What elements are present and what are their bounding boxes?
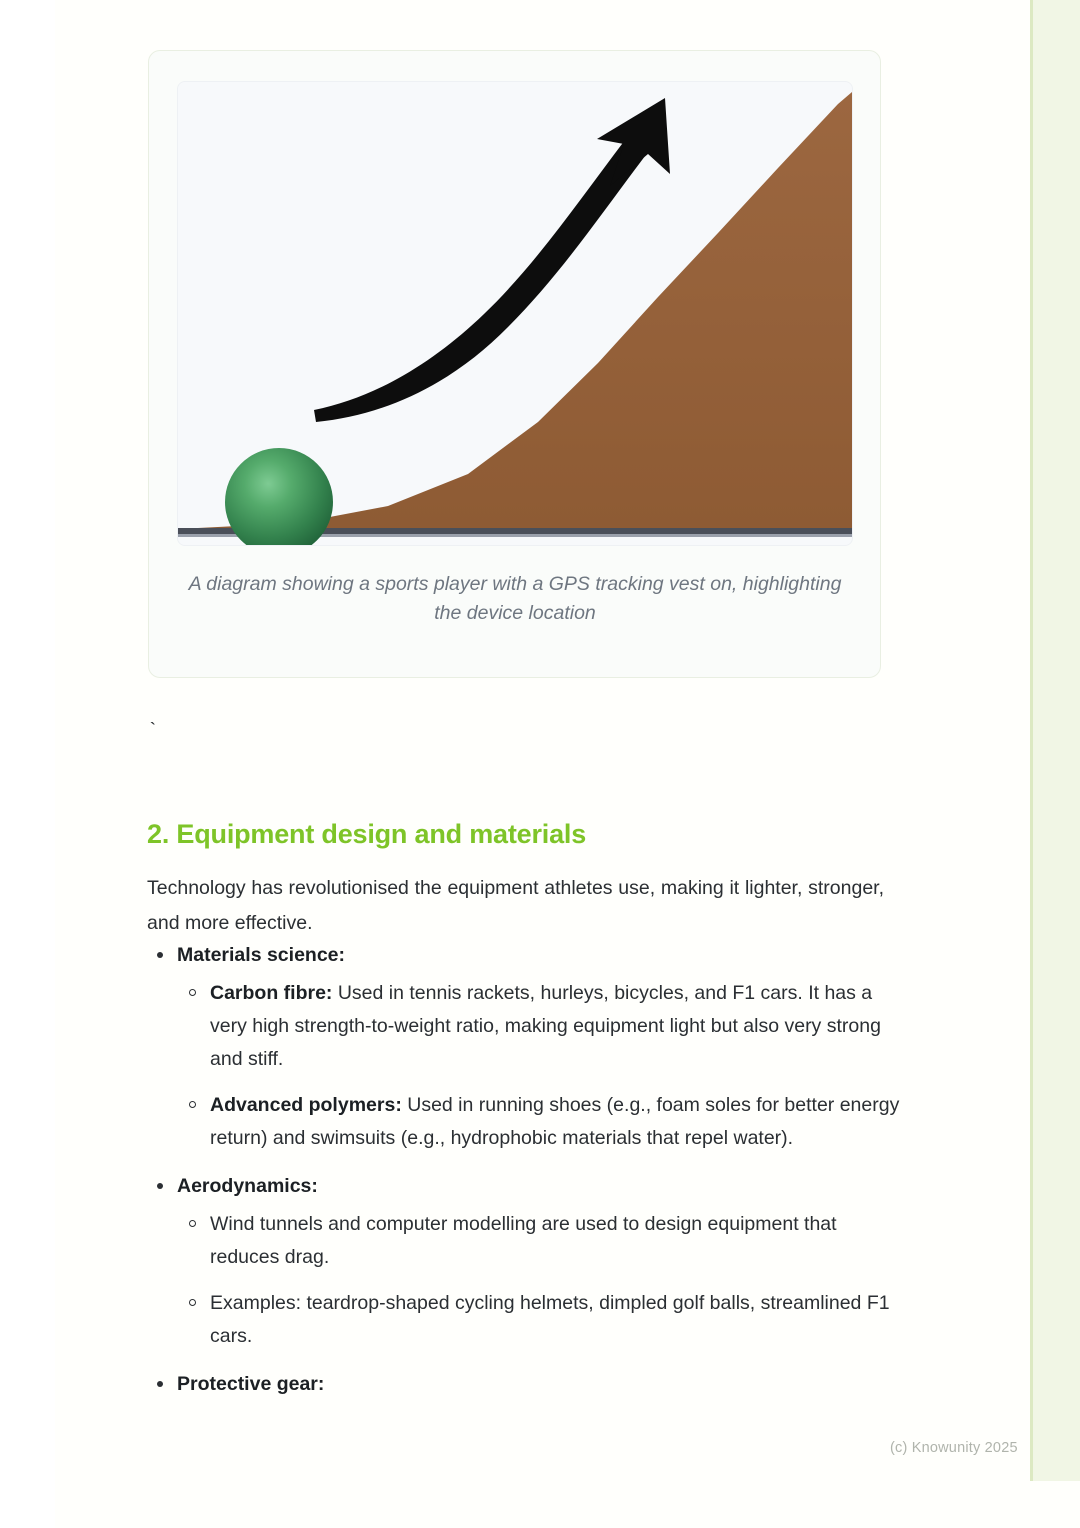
page-surface: A diagram showing a sports player with a… <box>55 0 1080 1528</box>
outline-group: Protective gear: <box>147 1369 907 1400</box>
copyright-watermark: (c) Knowunity 2025 <box>890 1438 1018 1458</box>
intro-paragraph: Technology has revolutionised the equipm… <box>147 871 884 941</box>
bullet-dot-icon <box>157 1183 163 1189</box>
outline-subitem: Advanced polymers: Used in running shoes… <box>177 1089 907 1155</box>
outline-subitem-lead: Carbon fibre: <box>210 982 332 1004</box>
outline-subitem-text: Advanced polymers: Used in running shoes… <box>210 1089 907 1155</box>
outline-subitem: Wind tunnels and computer modelling are … <box>177 1208 907 1274</box>
bullet-ring-icon <box>189 1101 196 1108</box>
outline-group: Aerodynamics:Wind tunnels and computer m… <box>147 1171 907 1353</box>
outline-subitem-text: Examples: teardrop-shaped cycling helmet… <box>210 1287 907 1353</box>
page-title: 2. Equipment design and materials <box>147 815 907 853</box>
outline-subitem-body: Wind tunnels and computer modelling are … <box>210 1213 837 1268</box>
outline-list: Materials science:Carbon fibre: Used in … <box>147 940 907 1416</box>
outline-subitem-text: Carbon fibre: Used in tennis rackets, hu… <box>210 977 907 1076</box>
green-sphere <box>225 448 333 545</box>
bullet-ring-icon <box>189 1299 196 1306</box>
bullet-dot-icon <box>157 1381 163 1387</box>
outline-group-label: Aerodynamics: <box>177 1171 907 1202</box>
outline-subitem: Examples: teardrop-shaped cycling helmet… <box>177 1287 907 1353</box>
bullet-ring-icon <box>189 989 196 996</box>
outline-group: Materials science:Carbon fibre: Used in … <box>147 940 907 1155</box>
right-rail <box>1030 0 1080 1481</box>
outline-subitem-body: Examples: teardrop-shaped cycling helmet… <box>210 1292 890 1347</box>
stray-backtick: ` <box>147 718 158 744</box>
figure-caption: A diagram showing a sports player with a… <box>179 570 851 628</box>
figure-image-frame <box>178 82 852 545</box>
outline-group-label: Protective gear: <box>177 1369 907 1400</box>
bullet-ring-icon <box>189 1220 196 1227</box>
outline-subitems: Wind tunnels and computer modelling are … <box>177 1208 907 1353</box>
outline-group-label: Materials science: <box>177 940 907 971</box>
outline-subitems: Carbon fibre: Used in tennis rackets, hu… <box>177 977 907 1155</box>
outline-subitem-lead: Advanced polymers: <box>210 1094 402 1116</box>
figure-card: A diagram showing a sports player with a… <box>148 50 881 678</box>
outline-subitem: Carbon fibre: Used in tennis rackets, hu… <box>177 977 907 1076</box>
bullet-dot-icon <box>157 952 163 958</box>
outline-root: Materials science:Carbon fibre: Used in … <box>147 940 907 1400</box>
growth-slope-diagram <box>178 82 852 545</box>
outline-subitem-text: Wind tunnels and computer modelling are … <box>210 1208 907 1274</box>
